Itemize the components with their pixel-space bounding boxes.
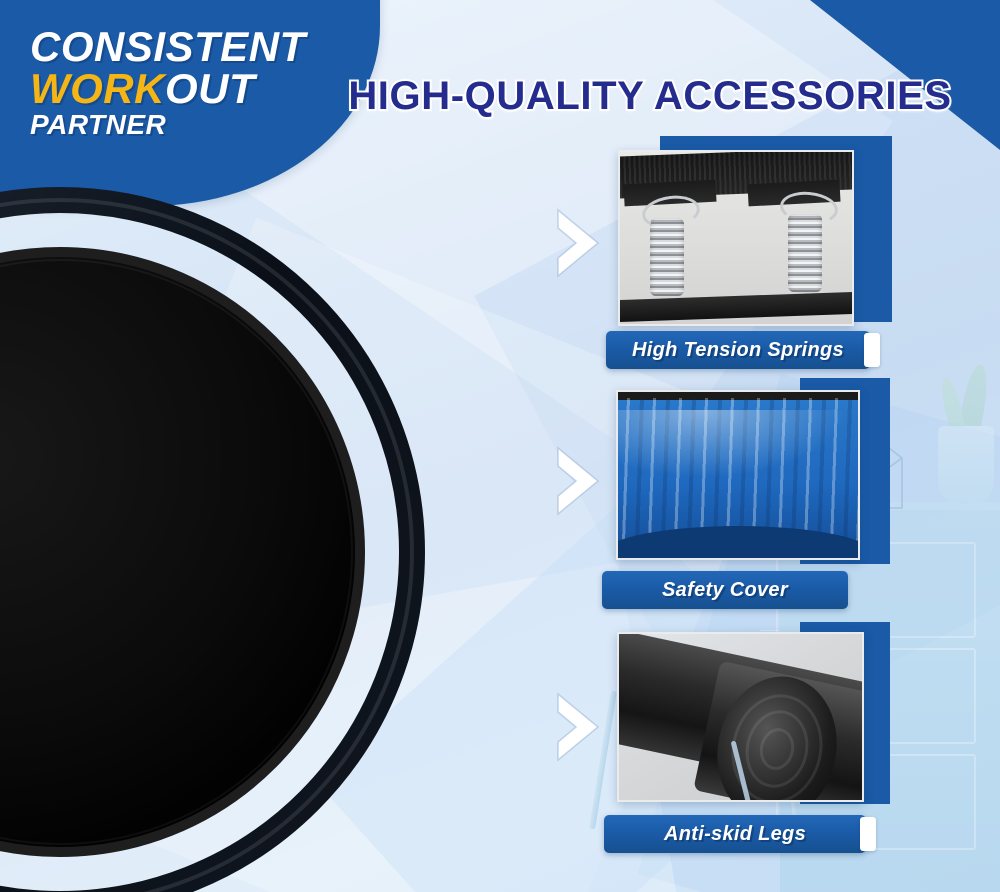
banner-line-2: WORKOUT — [30, 70, 360, 109]
feature-label-springs: High Tension Springs — [606, 331, 870, 369]
feature-label-safety-cover: Safety Cover — [602, 571, 848, 609]
chevron-right-icon — [552, 690, 604, 764]
trampoline-illustration: Upper Bounce — [0, 170, 550, 892]
chevron-right-icon — [552, 206, 604, 280]
infographic-canvas: CONSISTENT WORKOUT PARTNER HIGH-QUALITY … — [0, 0, 1000, 892]
feature-label-anti-skid-legs: Anti-skid Legs — [604, 815, 866, 853]
page-title: HIGH-QUALITY ACCESSORIES — [330, 74, 970, 119]
label-notch — [864, 333, 880, 367]
chevron-right-icon — [552, 444, 604, 518]
banner-line-2-gold: WORK — [30, 65, 165, 112]
banner-line-2-white: OUT — [165, 65, 255, 112]
safety-cover-photo — [616, 390, 860, 560]
springs-photo — [618, 150, 854, 326]
banner-line-1: CONSISTENT — [30, 28, 360, 67]
anti-skid-leg-photo — [617, 632, 864, 802]
banner-line-3: PARTNER — [30, 112, 360, 138]
label-notch — [860, 817, 876, 851]
